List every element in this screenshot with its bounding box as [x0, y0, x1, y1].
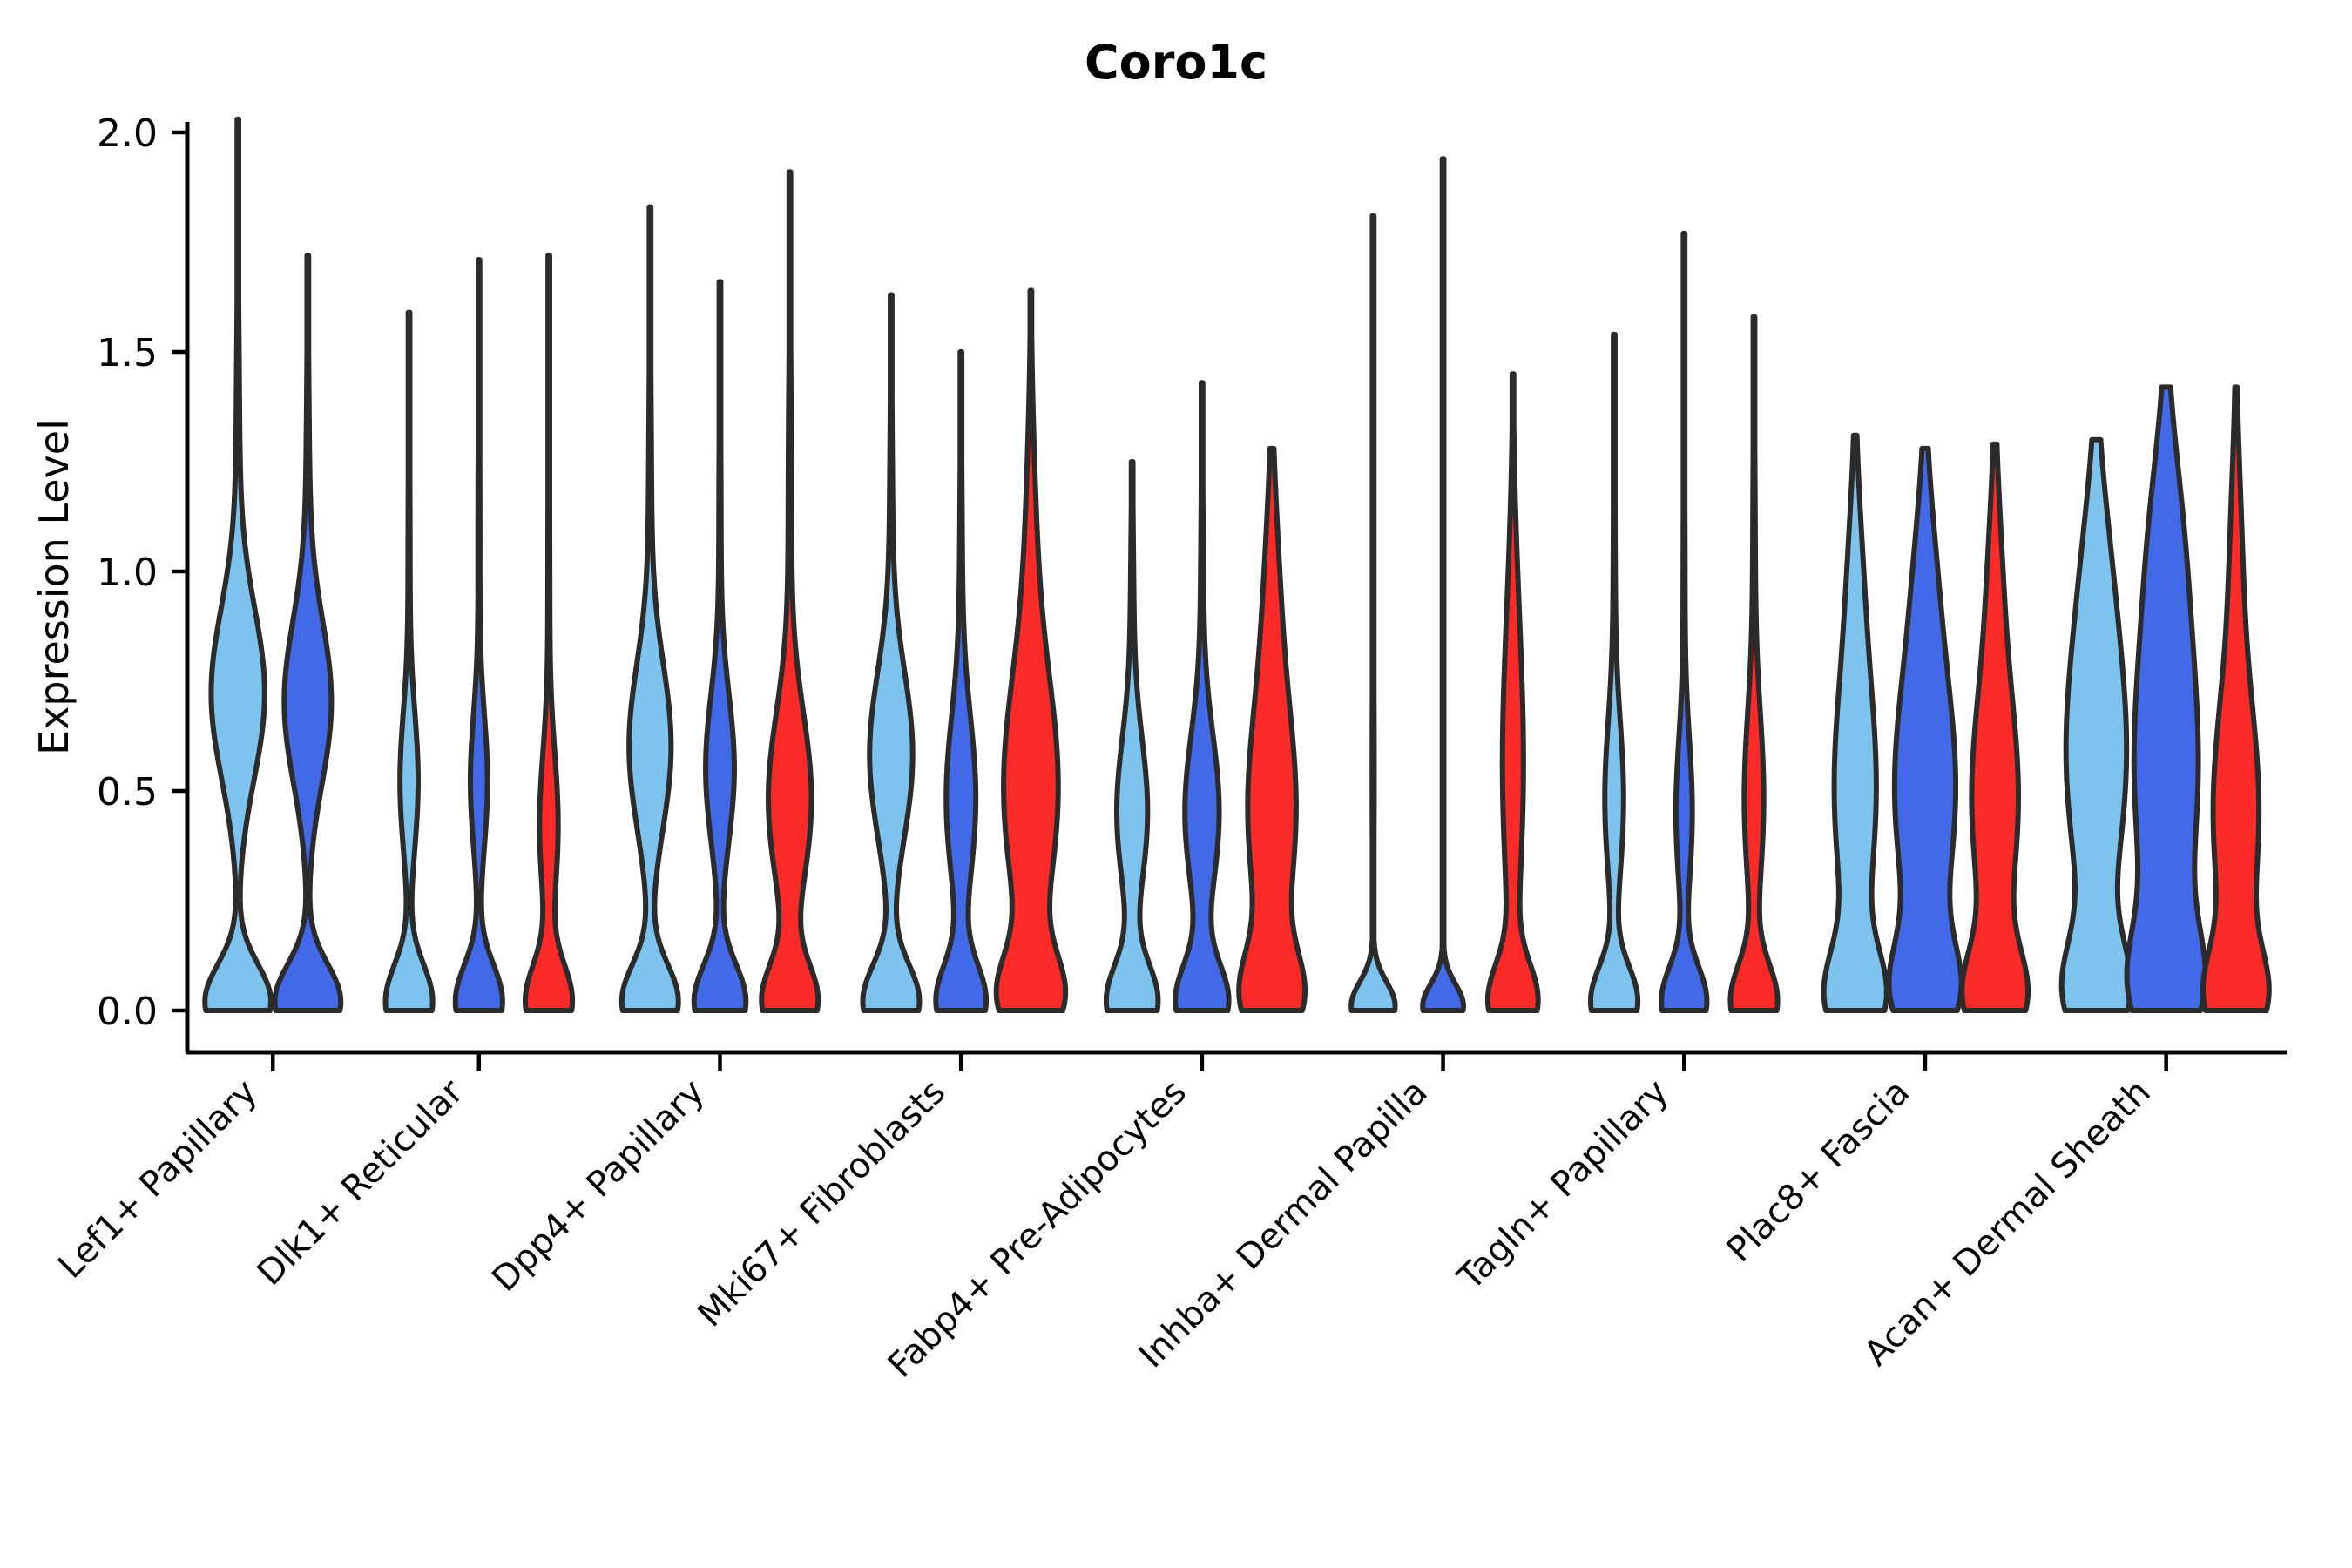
page-title: Coro1c	[1085, 35, 1267, 90]
y-axis-tick-label: 2.0	[97, 112, 158, 156]
y-axis-tick-label: 1.0	[97, 551, 158, 595]
y-axis-label: Expression Level	[30, 419, 78, 755]
y-axis-tick-label: 0.0	[97, 990, 158, 1034]
violin-plot-canvas: Coro1c Expression Level 0.00.51.01.52.0 …	[0, 0, 2352, 1568]
y-axis-tick-label: 0.5	[97, 770, 158, 814]
violin-plot-figure: Coro1c Expression Level 0.00.51.01.52.0 …	[0, 0, 2352, 1568]
y-axis-tick-label: 1.5	[97, 331, 158, 375]
